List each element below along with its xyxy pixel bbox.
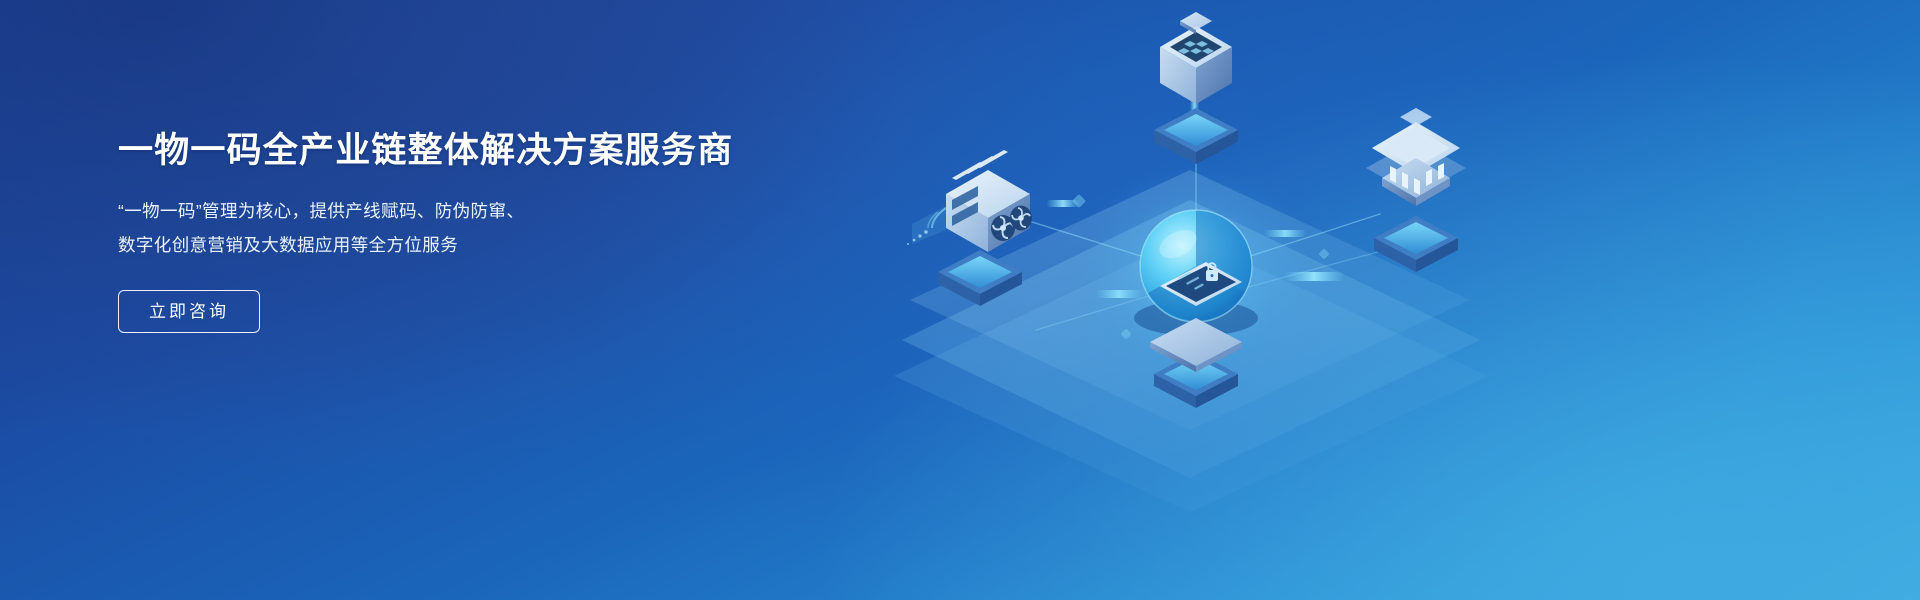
pedestal-top (1154, 108, 1238, 164)
hero-copy-block: 一物一码全产业链整体解决方案服务商 “一物一码”管理为核心，提供产线赋码、防伪防… (118, 130, 733, 333)
server-rack-icon (907, 150, 1032, 260)
isometric-network-illustration (860, 0, 1560, 600)
signal-cone (907, 206, 946, 245)
hero-banner: 一物一码全产业链整体解决方案服务商 “一物一码”管理为核心，提供产线赋码、防伪防… (0, 0, 1920, 600)
hero-subtitle: “一物一码”管理为核心，提供产线赋码、防伪防窜、 数字化创意营销及大数据应用等全… (118, 194, 733, 262)
bank-building-icon (1366, 108, 1466, 206)
consult-now-button[interactable]: 立即咨询 (118, 290, 260, 333)
hero-subtitle-line-2: 数字化创意营销及大数据应用等全方位服务 (118, 228, 733, 262)
hero-subtitle-line-1: “一物一码”管理为核心，提供产线赋码、防伪防窜、 (118, 194, 733, 228)
page-title: 一物一码全产业链整体解决方案服务商 (118, 130, 733, 172)
pos-terminal-icon (1158, 12, 1234, 108)
